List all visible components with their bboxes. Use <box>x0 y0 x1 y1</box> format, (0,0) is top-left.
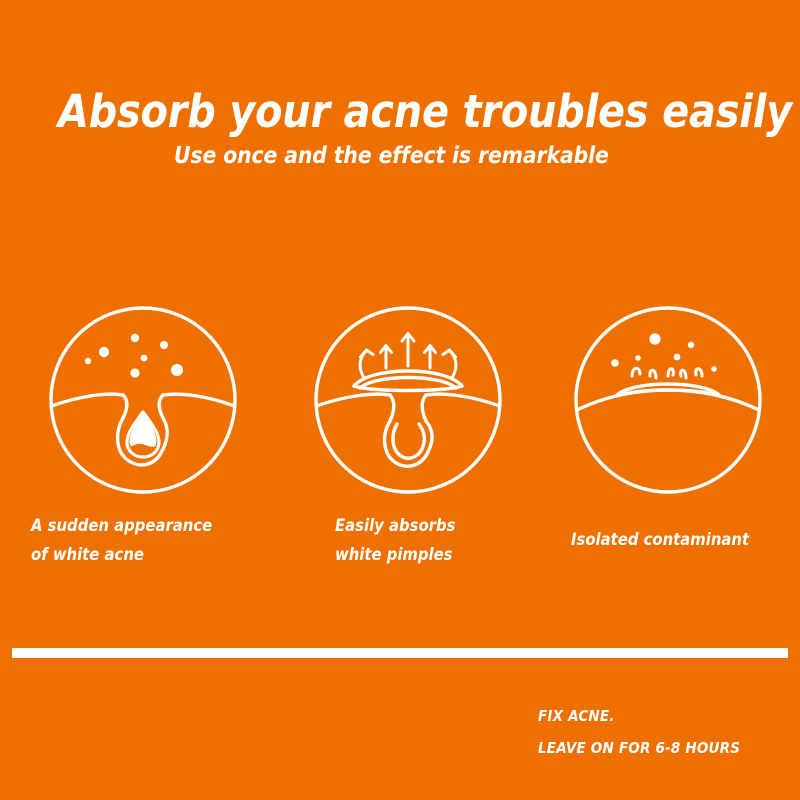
step-1-caption: A sudden appearance of white acne <box>31 511 212 569</box>
step-2-caption-line-1: Easily absorbs <box>335 511 455 540</box>
acne-breakout-icon <box>43 300 243 500</box>
step-1-caption-line-1: A sudden appearance <box>31 511 212 540</box>
step-2-caption: Easily absorbs white pimples <box>335 511 455 569</box>
footer-line-1: FIX ACNE. <box>538 700 740 732</box>
footer-line-2: LEAVE ON FOR 6-8 HOURS <box>538 732 740 764</box>
step-2-caption-line-2: white pimples <box>335 540 455 569</box>
poster-canvas: Absorb your acne troubles easily Use onc… <box>0 0 800 800</box>
footer-instructions: FIX ACNE. LEAVE ON FOR 6-8 HOURS <box>538 700 740 764</box>
step-icon-row <box>0 300 800 510</box>
page-title: Absorb your acne troubles easily <box>58 88 748 135</box>
divider-bar <box>12 648 788 658</box>
isolated-contaminant-icon <box>568 300 768 500</box>
page-subtitle: Use once and the effect is remarkable <box>174 143 609 169</box>
step-2-illustration <box>308 300 508 500</box>
step-3-illustration <box>568 300 768 500</box>
step-3-caption-line-1: Isolated contaminant <box>571 525 749 554</box>
absorbing-pimple-icon <box>308 300 508 500</box>
step-1-caption-line-2: of white acne <box>31 540 212 569</box>
step-3-caption: Isolated contaminant <box>571 525 749 554</box>
step-1-illustration <box>43 300 243 500</box>
